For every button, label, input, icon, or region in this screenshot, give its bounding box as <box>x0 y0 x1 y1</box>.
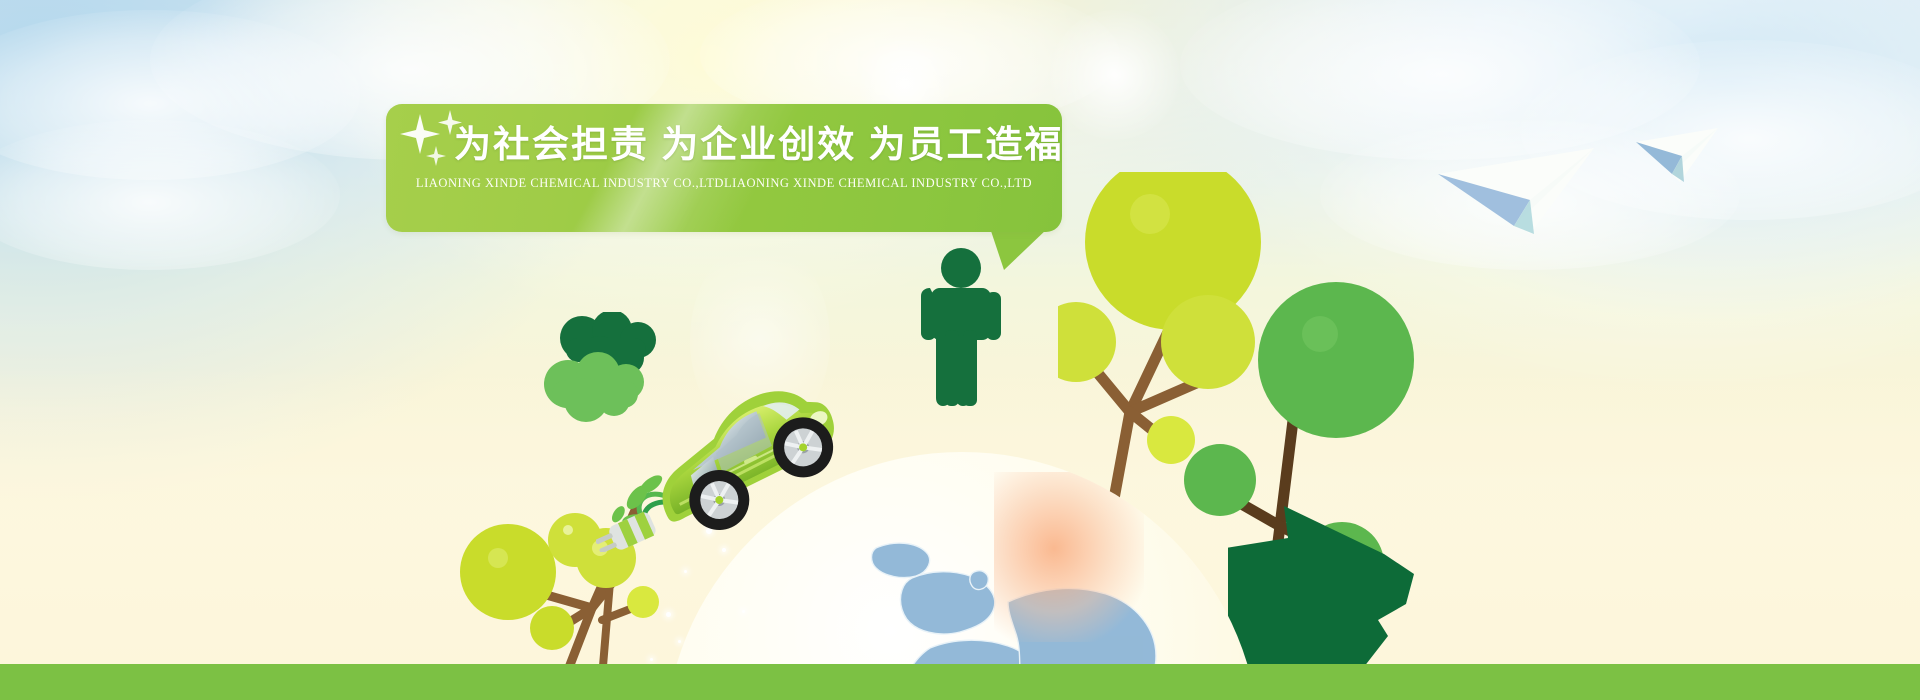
speech-bubble-banner: 为社会担责 为企业创效 为员工造福 LIAONING XINDE CHEMICA… <box>386 104 1062 232</box>
banner-headline: 为社会担责 为企业创效 为员工造福 <box>454 122 1054 168</box>
electric-car-icon <box>596 372 846 552</box>
promo-banner: 为社会担责 为企业创效 为员工造福 LIAONING XINDE CHEMICA… <box>0 0 1920 700</box>
ground-grass-strip <box>0 664 1920 700</box>
paper-plane-large-icon <box>1434 134 1604 238</box>
paper-plane-small-icon <box>1634 124 1724 186</box>
speech-bubble-tail <box>990 228 1052 270</box>
banner-subtitle: LIAONING XINDE CHEMICAL INDUSTRY CO.,LTD… <box>386 176 1062 191</box>
